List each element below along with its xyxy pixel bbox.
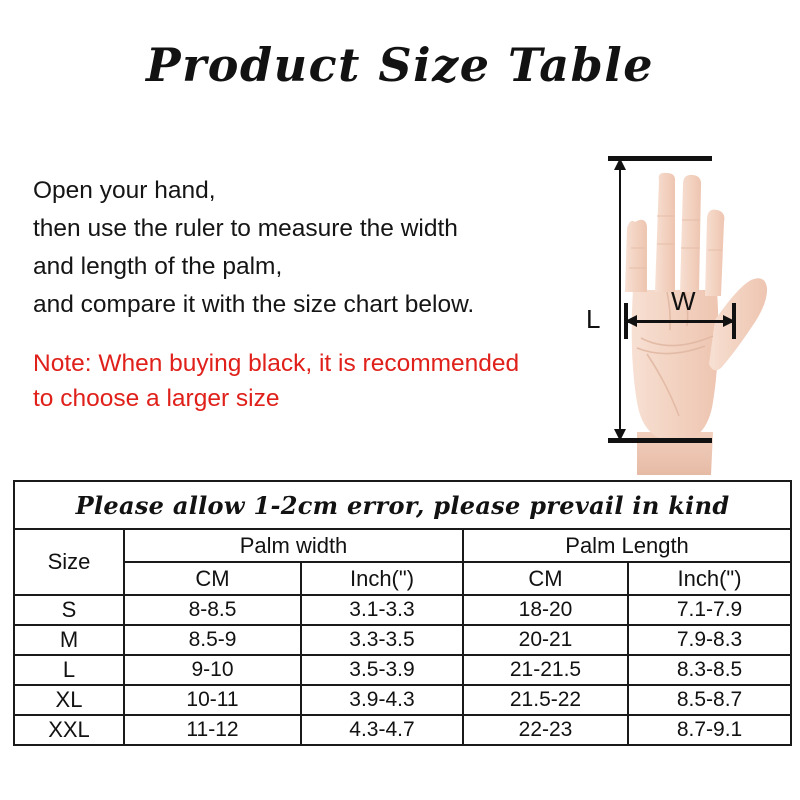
cell-width-inch: 3.1-3.3: [301, 595, 463, 625]
table-row: L 9-10 3.5-3.9 21-21.5 8.3-8.5: [14, 655, 791, 685]
instructions-block: Open your hand, then use the ruler to me…: [33, 172, 573, 324]
cell-width-inch: 3.3-3.5: [301, 625, 463, 655]
cell-length-cm: 22-23: [463, 715, 628, 745]
header-width-cm: CM: [124, 562, 301, 595]
length-dimension-line: [619, 160, 621, 442]
table-row: XL 10-11 3.9-4.3 21.5-22 8.5-8.7: [14, 685, 791, 715]
table-row: M 8.5-9 3.3-3.5 20-21 7.9-8.3: [14, 625, 791, 655]
note-line: Note: When buying black, it is recommend…: [33, 346, 603, 381]
table-disclaimer: Please allow 1-2cm error, please prevail…: [14, 481, 791, 529]
table-group-header-row: Size Palm width Palm Length: [14, 529, 791, 562]
cell-length-inch: 8.3-8.5: [628, 655, 791, 685]
cell-width-cm: 9-10: [124, 655, 301, 685]
cell-size: S: [14, 595, 124, 625]
cell-width-cm: 10-11: [124, 685, 301, 715]
instruction-line: Open your hand,: [33, 172, 573, 210]
width-label: W: [671, 288, 696, 314]
arrow-up-icon: [614, 158, 626, 170]
arrow-down-icon: [614, 429, 626, 441]
header-length-cm: CM: [463, 562, 628, 595]
cell-length-cm: 18-20: [463, 595, 628, 625]
cell-size: M: [14, 625, 124, 655]
instruction-line: and length of the palm,: [33, 248, 573, 286]
cell-width-cm: 8-8.5: [124, 595, 301, 625]
table-disclaimer-row: Please allow 1-2cm error, please prevail…: [14, 481, 791, 529]
header-size: Size: [14, 529, 124, 595]
header-width-inch: Inch("): [301, 562, 463, 595]
cell-width-cm: 11-12: [124, 715, 301, 745]
cell-length-inch: 8.7-9.1: [628, 715, 791, 745]
width-dimension-line: [627, 320, 735, 323]
cell-size: XXL: [14, 715, 124, 745]
warning-note: Note: When buying black, it is recommend…: [33, 346, 603, 416]
cell-length-cm: 20-21: [463, 625, 628, 655]
cell-length-inch: 7.1-7.9: [628, 595, 791, 625]
cell-width-cm: 8.5-9: [124, 625, 301, 655]
cell-length-inch: 7.9-8.3: [628, 625, 791, 655]
instruction-line: then use the ruler to measure the width: [33, 210, 573, 248]
instruction-line: and compare it with the size chart below…: [33, 286, 573, 324]
page-title: Product Size Table: [0, 38, 800, 92]
cell-width-inch: 3.5-3.9: [301, 655, 463, 685]
header-palm-width: Palm width: [124, 529, 463, 562]
cell-length-inch: 8.5-8.7: [628, 685, 791, 715]
cell-length-cm: 21.5-22: [463, 685, 628, 715]
cell-width-inch: 3.9-4.3: [301, 685, 463, 715]
table-row: S 8-8.5 3.1-3.3 18-20 7.1-7.9: [14, 595, 791, 625]
header-palm-length: Palm Length: [463, 529, 791, 562]
cell-size: L: [14, 655, 124, 685]
note-line: to choose a larger size: [33, 381, 603, 416]
hand-measurement-diagram: L W: [575, 140, 795, 475]
cell-width-inch: 4.3-4.7: [301, 715, 463, 745]
size-chart-table: Please allow 1-2cm error, please prevail…: [13, 480, 792, 746]
length-label: L: [586, 306, 600, 332]
table-row: XXL 11-12 4.3-4.7 22-23 8.7-9.1: [14, 715, 791, 745]
cell-size: XL: [14, 685, 124, 715]
header-length-inch: Inch("): [628, 562, 791, 595]
arrow-right-icon: [723, 315, 735, 327]
table-unit-header-row: CM Inch(") CM Inch("): [14, 562, 791, 595]
cell-length-cm: 21-21.5: [463, 655, 628, 685]
arrow-left-icon: [625, 315, 637, 327]
